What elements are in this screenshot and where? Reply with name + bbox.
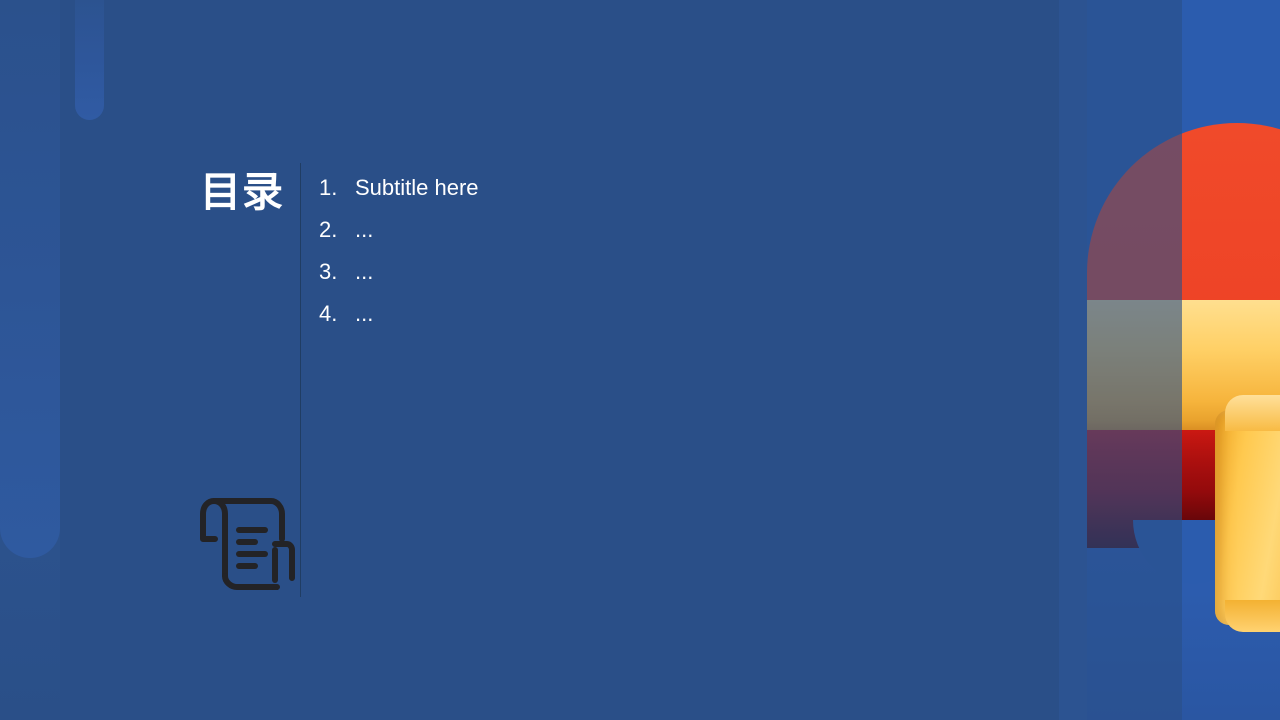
vertical-divider <box>300 163 301 597</box>
list-item-number: 2. <box>319 217 355 243</box>
scroll-alert-icon-svg <box>189 494 295 590</box>
list-item-label: ... <box>355 259 373 285</box>
list-item[interactable]: 1. Subtitle here <box>319 175 479 217</box>
list-item[interactable]: 3. ... <box>319 259 479 301</box>
presentation-slide: 目录 1. Subtitle here 2. ... 3. ... 4. ... <box>0 0 1280 720</box>
megaphone-horn-top-flare <box>1225 395 1280 431</box>
list-item-number: 4. <box>319 301 355 327</box>
list-item[interactable]: 4. ... <box>319 301 479 343</box>
list-item[interactable]: 2. ... <box>319 217 479 259</box>
right-background-band-inner <box>1059 0 1087 720</box>
artwork-translucent-overlay <box>1087 0 1182 720</box>
list-item-label: ... <box>355 301 373 327</box>
list-item-number: 1. <box>319 175 355 201</box>
list-item-number: 3. <box>319 259 355 285</box>
megaphone-3d-illustration <box>1087 0 1280 720</box>
slide-content: 目录 1. Subtitle here 2. ... 3. ... 4. ... <box>0 0 1060 720</box>
page-title: 目录 <box>200 172 284 213</box>
megaphone-horn-bottom-flare <box>1225 600 1280 632</box>
megaphone-horn-body <box>1215 410 1280 625</box>
list-item-label: ... <box>355 217 373 243</box>
scroll-alert-icon <box>189 494 295 595</box>
list-item-label: Subtitle here <box>355 175 479 201</box>
toc-list: 1. Subtitle here 2. ... 3. ... 4. ... <box>319 175 479 343</box>
